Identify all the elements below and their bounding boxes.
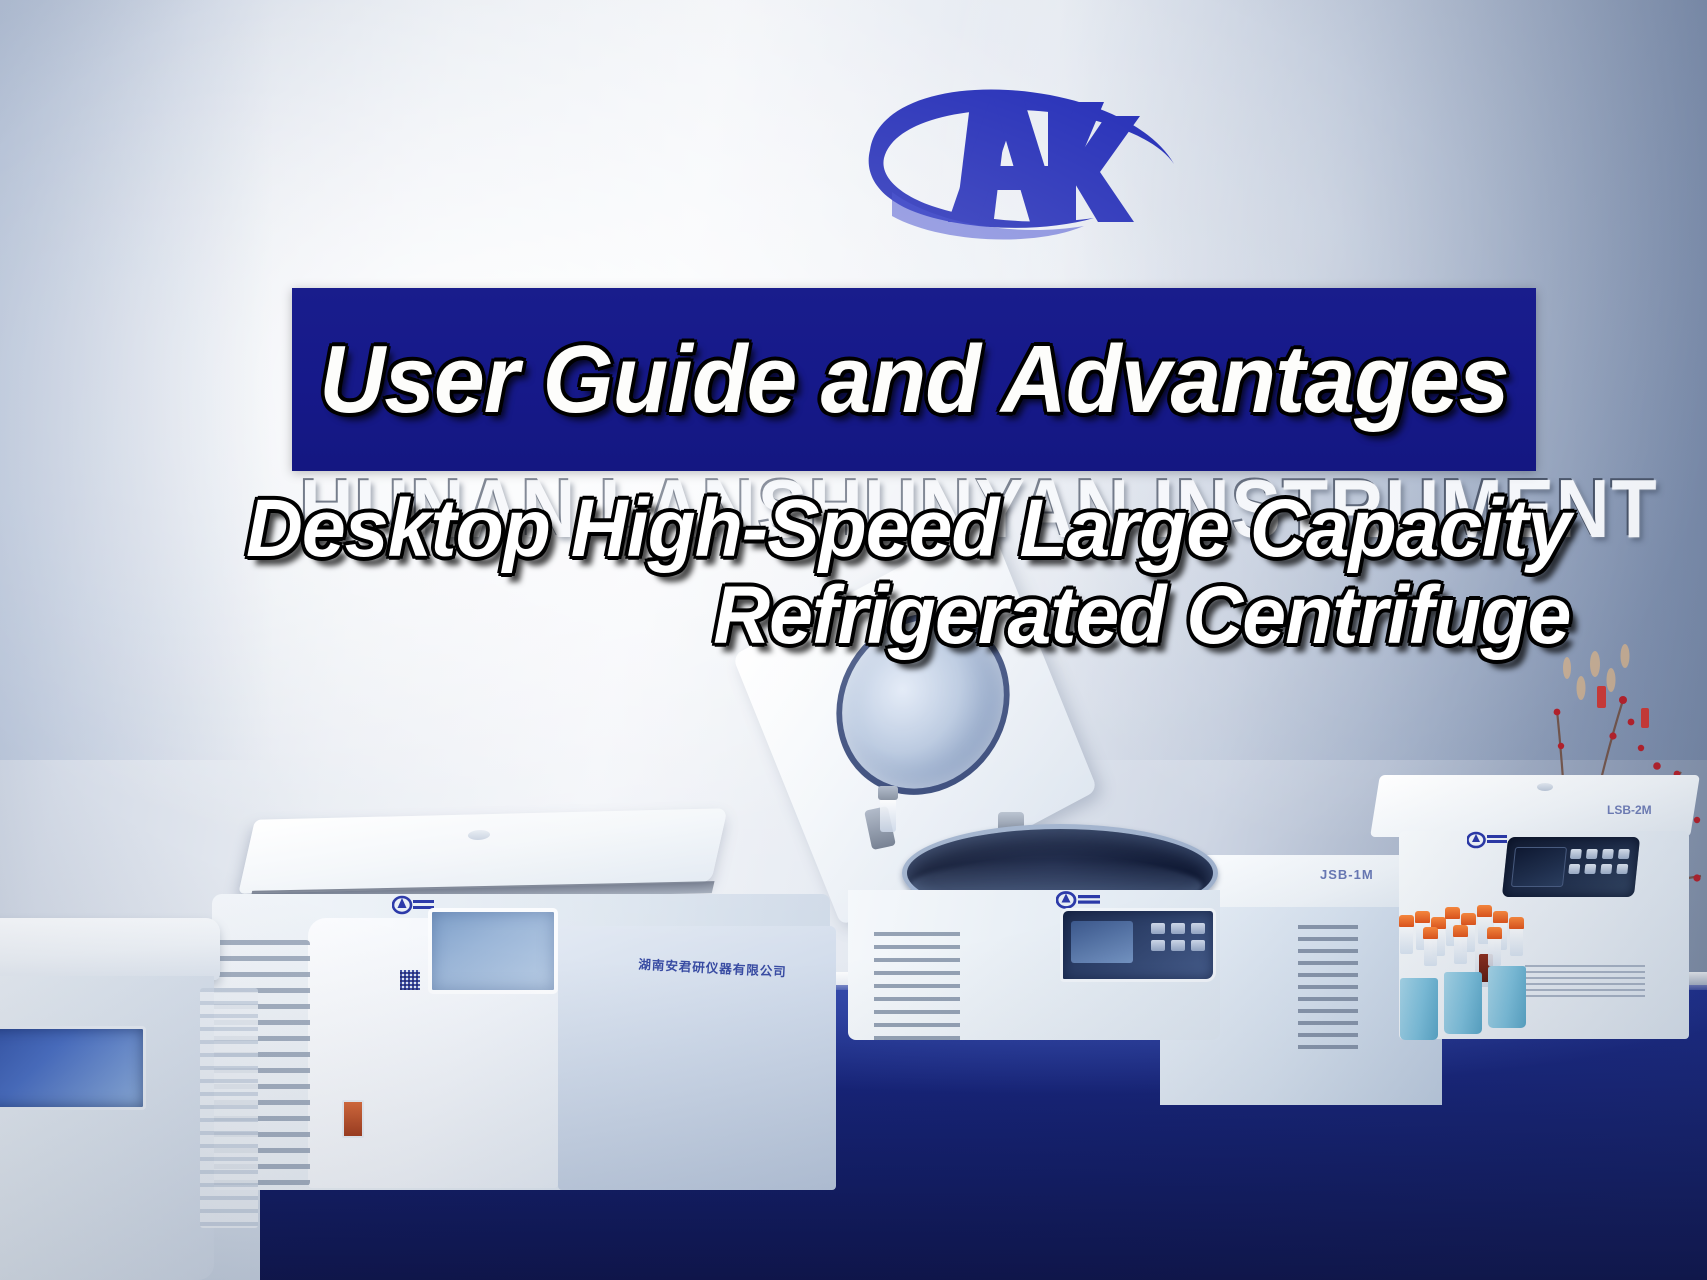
key[interactable] bbox=[1568, 864, 1580, 874]
key[interactable] bbox=[1191, 940, 1205, 951]
poster-canvas: HUNAN LANSHUNYAN INSTRUMENT bbox=[0, 0, 1707, 1280]
front-large-centrifuge: 湖南安君研仪器有限公司 bbox=[200, 790, 860, 1190]
touchscreen-display[interactable] bbox=[428, 908, 558, 994]
control-panel[interactable] bbox=[1502, 837, 1640, 897]
model-label: JSB-1M bbox=[1320, 867, 1374, 882]
vial-cap bbox=[878, 786, 898, 800]
display-screen bbox=[1071, 921, 1133, 963]
key[interactable] bbox=[1618, 849, 1630, 859]
sample-tube bbox=[1400, 924, 1413, 954]
qr-code-icon bbox=[400, 970, 420, 990]
ventilation-grille bbox=[874, 932, 960, 1040]
keypad[interactable] bbox=[1568, 849, 1630, 874]
machine-lid[interactable] bbox=[0, 918, 220, 980]
machine-body bbox=[0, 976, 214, 1280]
lid-knob[interactable] bbox=[1537, 783, 1553, 791]
machine-lid[interactable] bbox=[238, 808, 727, 893]
ventilation-grille bbox=[200, 988, 258, 1228]
ventilation-grille bbox=[1298, 925, 1358, 1053]
display-screen[interactable] bbox=[0, 1026, 146, 1110]
reagent-vial bbox=[880, 798, 896, 832]
key[interactable] bbox=[1600, 864, 1612, 874]
key[interactable] bbox=[1151, 923, 1165, 934]
key[interactable] bbox=[1191, 923, 1205, 934]
key[interactable] bbox=[1171, 940, 1185, 951]
sample-tube-group bbox=[1398, 902, 1548, 962]
sample-tube bbox=[1454, 934, 1467, 964]
key[interactable] bbox=[1616, 864, 1628, 874]
ajk-badge-icon bbox=[1467, 831, 1509, 849]
model-label: LSB-2M bbox=[1607, 803, 1652, 817]
tube-rack bbox=[1400, 978, 1438, 1040]
keypad[interactable] bbox=[1151, 923, 1205, 951]
tube-rack bbox=[1488, 966, 1526, 1028]
sample-tube bbox=[1488, 936, 1501, 966]
control-panel[interactable] bbox=[1060, 908, 1216, 982]
ajk-badge-icon bbox=[1056, 890, 1102, 910]
left-partial-centrifuge bbox=[0, 918, 240, 1280]
page-title: User Guide and Advantages bbox=[319, 332, 1508, 428]
title-banner: User Guide and Advantages bbox=[292, 288, 1536, 471]
tube-rack bbox=[1444, 972, 1482, 1034]
key[interactable] bbox=[1151, 940, 1165, 951]
bottom-grille bbox=[1525, 965, 1645, 997]
key[interactable] bbox=[1570, 849, 1582, 859]
power-switch[interactable] bbox=[342, 1100, 364, 1138]
ajk-swoosh-logo-icon bbox=[862, 72, 1182, 262]
sample-tube bbox=[1510, 926, 1523, 956]
key[interactable] bbox=[1171, 923, 1185, 934]
sample-tube bbox=[1424, 936, 1437, 966]
key[interactable] bbox=[1584, 864, 1596, 874]
key[interactable] bbox=[1602, 849, 1614, 859]
display-screen bbox=[1511, 847, 1567, 887]
key[interactable] bbox=[1586, 849, 1598, 859]
